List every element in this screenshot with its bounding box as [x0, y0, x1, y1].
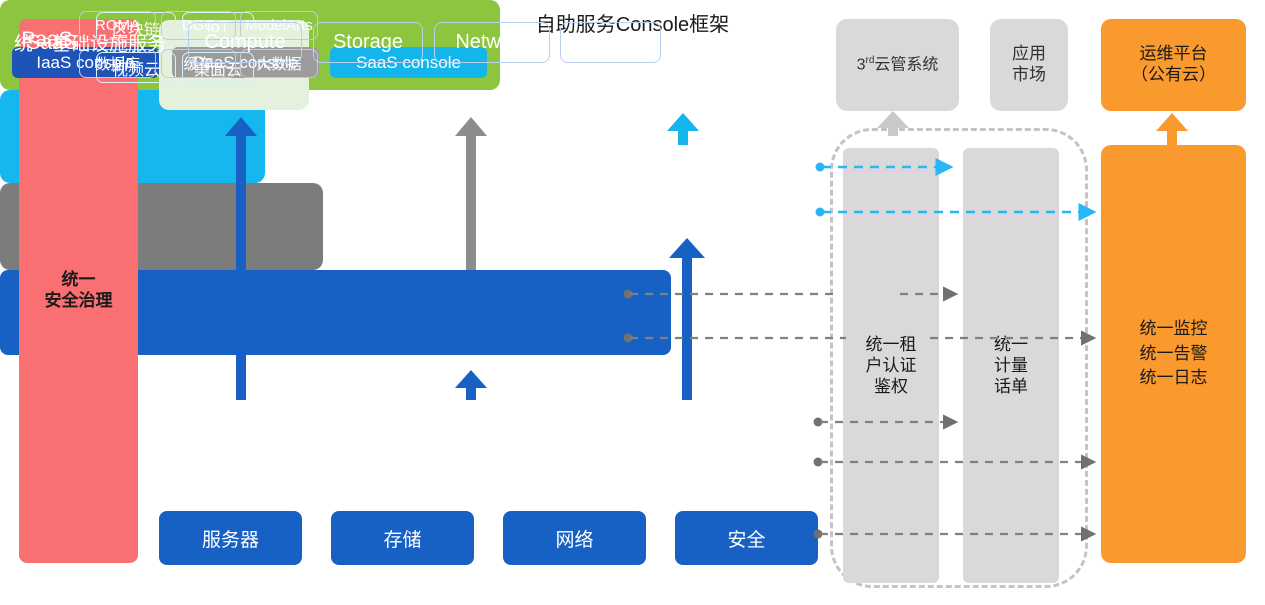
bottom-box-label: 服务器	[202, 525, 259, 552]
paas-chip-label: 数据库	[95, 53, 140, 74]
bottom-box-server[interactable]: 服务器	[159, 511, 302, 565]
infra-chip-compute[interactable]: Compute	[188, 22, 302, 63]
bottom-box-network[interactable]: 网络	[503, 511, 646, 565]
infra-chip-storage[interactable]: Storage	[313, 22, 423, 63]
infra-chip-cce[interactable]: CCE	[560, 22, 661, 63]
security-panel-label: 统一 安全治理	[45, 270, 113, 311]
shared-column-label: 统一租 户认证 鉴权	[866, 334, 917, 398]
infra-chip-network[interactable]: Network	[434, 22, 550, 63]
ops-right-label: 统一监控 统一告警 统一日志	[1140, 317, 1208, 391]
infra-chip-label: CCE	[589, 31, 631, 54]
third-party-cloud-management-box[interactable]: 3rd云管系统	[836, 19, 959, 111]
third-party-prefix: 3	[857, 56, 866, 73]
arrow-infra-to-paas	[455, 370, 487, 400]
arrow-ops-right-to-ops-platform	[1156, 113, 1188, 145]
infrastructure-label: 统一基础设施服务	[14, 29, 166, 56]
infra-chip-label: Compute	[204, 31, 285, 54]
ops-platform-public-cloud-box[interactable]: 运维平台 （公有云）	[1101, 19, 1246, 111]
bottom-box-label: 网络	[555, 525, 593, 552]
unified-security-governance-panel[interactable]: 统一 安全治理	[19, 19, 138, 563]
infra-chip-label: Storage	[333, 31, 403, 54]
arrow-saas-to-console	[667, 113, 699, 145]
app-market-box[interactable]: 应用 市场	[990, 19, 1068, 111]
bottom-box-security[interactable]: 安全	[675, 511, 818, 565]
shared-column-metering-billing[interactable]: 统一 计量 话单	[963, 148, 1059, 583]
app-market-label: 应用 市场	[1012, 44, 1046, 85]
third-party-label: 3rd云管系统	[857, 55, 939, 75]
ops-platform-label: 运维平台 （公有云）	[1131, 44, 1216, 85]
bottom-box-storage[interactable]: 存储	[331, 511, 474, 565]
unified-monitoring-panel[interactable]: 统一监控 统一告警 统一日志	[1101, 145, 1246, 563]
infra-chip-label: Network	[455, 31, 528, 54]
bottom-box-label: 存储	[383, 525, 421, 552]
shared-column-tenant-auth[interactable]: 统一租 户认证 鉴权	[843, 148, 939, 583]
arrow-infra-to-saas	[669, 238, 705, 400]
third-party-suffix: 云管系统	[874, 56, 938, 73]
diagram-canvas: 统一 安全治理 API网关 自助服务Console框架 IaaS console…	[0, 0, 1265, 605]
arrow-paas-to-console	[455, 117, 487, 270]
bottom-box-label: 安全	[727, 525, 765, 552]
shared-column-label: 统一 计量 话单	[994, 334, 1028, 398]
